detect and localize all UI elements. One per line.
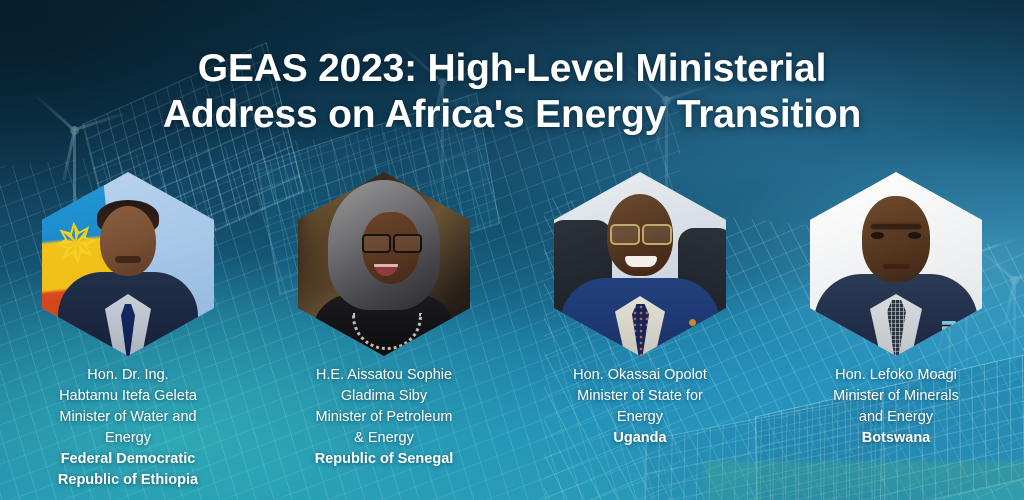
speaker-card-ethiopia: ✵ Hon. Dr. Ing. Habtamu Itefa Geleta Min… [0, 172, 256, 492]
speaker-role-line-1: Minister of Water and [10, 407, 246, 428]
speaker-name-line-1: Hon. Okassai Opolot [522, 365, 758, 386]
speaker-card-uganda: Hon. Okassai Opolot Minister of State fo… [512, 172, 768, 492]
event-banner: GEAS 2023: High-Level Ministerial Addres… [0, 0, 1024, 500]
eyeglasses-icon [362, 234, 422, 249]
speaker-role-line-1: Minister of Minerals [778, 386, 1014, 407]
speaker-list: ✵ Hon. Dr. Ing. Habtamu Itefa Geleta Min… [0, 172, 1024, 492]
speaker-portrait-uganda [554, 172, 726, 356]
speaker-portrait-senegal [298, 172, 470, 356]
botswana-flag-pin-icon [942, 321, 956, 330]
speaker-role-line-1: Minister of Petroleum [266, 407, 502, 428]
speaker-role-line-2: and Energy [778, 407, 1014, 428]
eyeglasses-icon [610, 224, 672, 241]
speaker-country-line-1: Botswana [778, 428, 1014, 449]
speaker-caption-uganda: Hon. Okassai Opolot Minister of State fo… [522, 365, 758, 449]
pearl-necklace [352, 313, 422, 350]
speaker-role-line-2: Energy [522, 407, 758, 428]
lapel-pin-icon [689, 319, 696, 326]
speaker-name-line-2: Habtamu Itefa Geleta [10, 386, 246, 407]
speaker-country-line-1: Uganda [522, 428, 758, 449]
speaker-role-line-1: Minister of State for [522, 386, 758, 407]
speaker-card-senegal: H.E. Aissatou Sophie Gladima Siby Minist… [256, 172, 512, 492]
speaker-card-botswana: Hon. Lefoko Moagi Minister of Minerals a… [768, 172, 1024, 492]
speaker-role-line-2: Energy [10, 428, 246, 449]
speaker-name-line-2: Gladima Siby [266, 386, 502, 407]
speaker-portrait-botswana [810, 172, 982, 356]
speaker-country-line-1: Federal Democratic [10, 449, 246, 470]
speaker-caption-ethiopia: Hon. Dr. Ing. Habtamu Itefa Geleta Minis… [10, 365, 246, 491]
speaker-caption-senegal: H.E. Aissatou Sophie Gladima Siby Minist… [266, 365, 502, 470]
speaker-name-line-1: Hon. Dr. Ing. [10, 365, 246, 386]
speaker-caption-botswana: Hon. Lefoko Moagi Minister of Minerals a… [778, 365, 1014, 449]
speaker-portrait-ethiopia: ✵ [42, 172, 214, 356]
speaker-country-line-1: Republic of Senegal [266, 449, 502, 470]
speaker-name-line-1: Hon. Lefoko Moagi [778, 365, 1014, 386]
speaker-role-line-2: & Energy [266, 428, 502, 449]
speaker-country-line-2: Republic of Ethiopia [10, 470, 246, 491]
speaker-name-line-1: H.E. Aissatou Sophie [266, 365, 502, 386]
